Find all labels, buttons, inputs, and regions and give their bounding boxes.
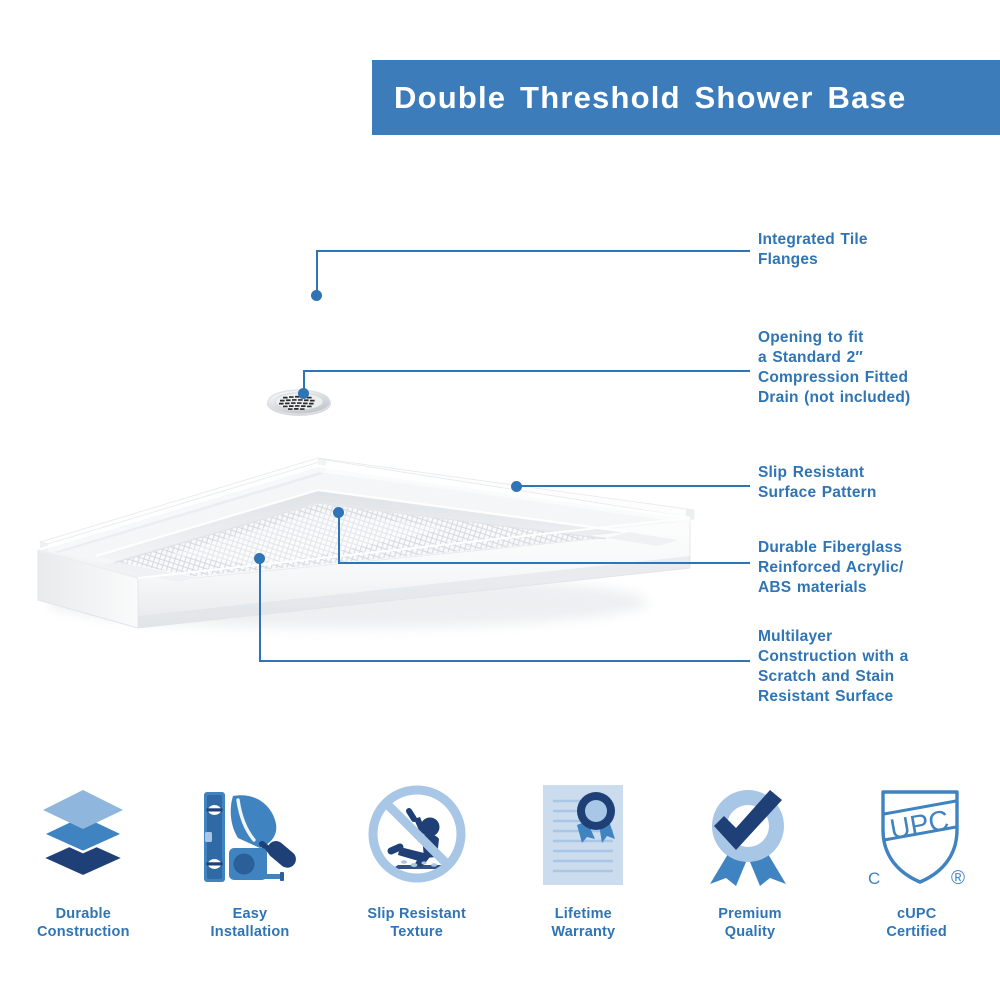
leader-line-flanges-horizontal xyxy=(316,250,750,252)
annotation-drain-opening: Opening to fit a Standard 2″ Compression… xyxy=(758,328,1000,408)
annotation-slip-resistant-surface: Slip Resistant Surface Pattern xyxy=(758,463,1000,503)
feature-label-line: Certified xyxy=(886,923,947,941)
feature-label: Slip Resistant Texture xyxy=(367,905,466,941)
feature-label: Premium Quality xyxy=(718,905,781,941)
leader-line-multilayer-horizontal xyxy=(259,660,750,662)
annotation-line: Multilayer xyxy=(758,627,1000,647)
annotation-line: Resistant Surface xyxy=(758,687,1000,707)
feature-label: Durable Construction xyxy=(37,905,130,941)
annotation-line: Opening to fit xyxy=(758,328,1000,348)
annotation-line: Compression Fitted xyxy=(758,368,1000,388)
annotation-line: Scratch and Stain xyxy=(758,667,1000,687)
annotation-line: Flanges xyxy=(758,250,1000,270)
annotation-multilayer-construction: Multilayer Construction with a Scratch a… xyxy=(758,627,1000,707)
feature-label-line: Quality xyxy=(718,923,781,941)
no-slip-prohibition-icon xyxy=(358,775,476,893)
leader-dot-slip xyxy=(511,481,522,492)
annotation-line: Integrated Tile xyxy=(758,230,1000,250)
feature-label-line: Installation xyxy=(211,923,290,941)
shower-base-drawing xyxy=(18,250,738,650)
leader-line-slip-horizontal xyxy=(517,485,750,487)
registered-mark: ® xyxy=(951,868,965,889)
annotation-line: Drain (not included) xyxy=(758,388,1000,408)
feature-easy-installation: Easy Installation xyxy=(167,775,334,941)
leader-line-drain-horizontal xyxy=(303,370,750,372)
feature-label: Easy Installation xyxy=(211,905,290,941)
feature-label-line: Warranty xyxy=(551,923,615,941)
feature-label: cUPC Certified xyxy=(886,905,947,941)
infographic-canvas: Double Threshold Shower Base xyxy=(0,0,1000,1000)
feature-label-line: Easy xyxy=(211,905,290,923)
annotation-line: Construction with a xyxy=(758,647,1000,667)
stacked-layers-icon xyxy=(24,775,142,893)
title-banner: Double Threshold Shower Base xyxy=(372,60,1000,135)
leader-line-flanges-vertical xyxy=(316,250,318,295)
certificate-rosette-icon xyxy=(524,775,642,893)
feature-cupc-certified: UPC C ® cUPC Certified xyxy=(833,775,1000,941)
annotation-line: a Standard 2″ xyxy=(758,348,1000,368)
leader-dot-flanges xyxy=(311,290,322,301)
feature-slip-resistant-texture: Slip Resistant Texture xyxy=(333,775,500,941)
leader-dot-drain xyxy=(298,388,309,399)
leader-line-multilayer-vertical xyxy=(259,558,261,662)
annotation-durable-materials: Durable Fiberglass Reinforced Acrylic/ A… xyxy=(758,538,1000,598)
annotation-integrated-tile-flanges: Integrated Tile Flanges xyxy=(758,230,1000,270)
page-title: Double Threshold Shower Base xyxy=(372,80,906,116)
feature-label-line: cUPC xyxy=(886,905,947,923)
leader-line-materials-horizontal xyxy=(338,562,750,564)
upc-shield-icon: UPC C ® xyxy=(858,775,976,893)
feature-durable-construction: Durable Construction xyxy=(0,775,167,941)
leader-dot-materials xyxy=(333,507,344,518)
feature-label-line: Lifetime xyxy=(551,905,615,923)
product-illustration xyxy=(18,250,738,650)
feature-label-line: Texture xyxy=(367,923,466,941)
feature-label-line: Construction xyxy=(37,923,130,941)
leader-dot-multilayer xyxy=(254,553,265,564)
annotation-line: Surface Pattern xyxy=(758,483,1000,503)
annotation-line: Reinforced Acrylic/ xyxy=(758,558,1000,578)
level-trowel-tape-icon xyxy=(191,775,309,893)
feature-premium-quality: Premium Quality xyxy=(667,775,834,941)
leader-line-materials-vertical xyxy=(338,512,340,564)
feature-label: Lifetime Warranty xyxy=(551,905,615,941)
feature-lifetime-warranty: Lifetime Warranty xyxy=(500,775,667,941)
feature-label-line: Slip Resistant xyxy=(367,905,466,923)
annotation-line: Slip Resistant xyxy=(758,463,1000,483)
annotation-line: ABS materials xyxy=(758,578,1000,598)
upc-prefix-c: C xyxy=(868,869,880,888)
feature-icon-row: Durable Construction xyxy=(0,775,1000,975)
check-rosette-icon xyxy=(691,775,809,893)
annotation-line: Durable Fiberglass xyxy=(758,538,1000,558)
feature-label-line: Durable xyxy=(37,905,130,923)
feature-label-line: Premium xyxy=(718,905,781,923)
